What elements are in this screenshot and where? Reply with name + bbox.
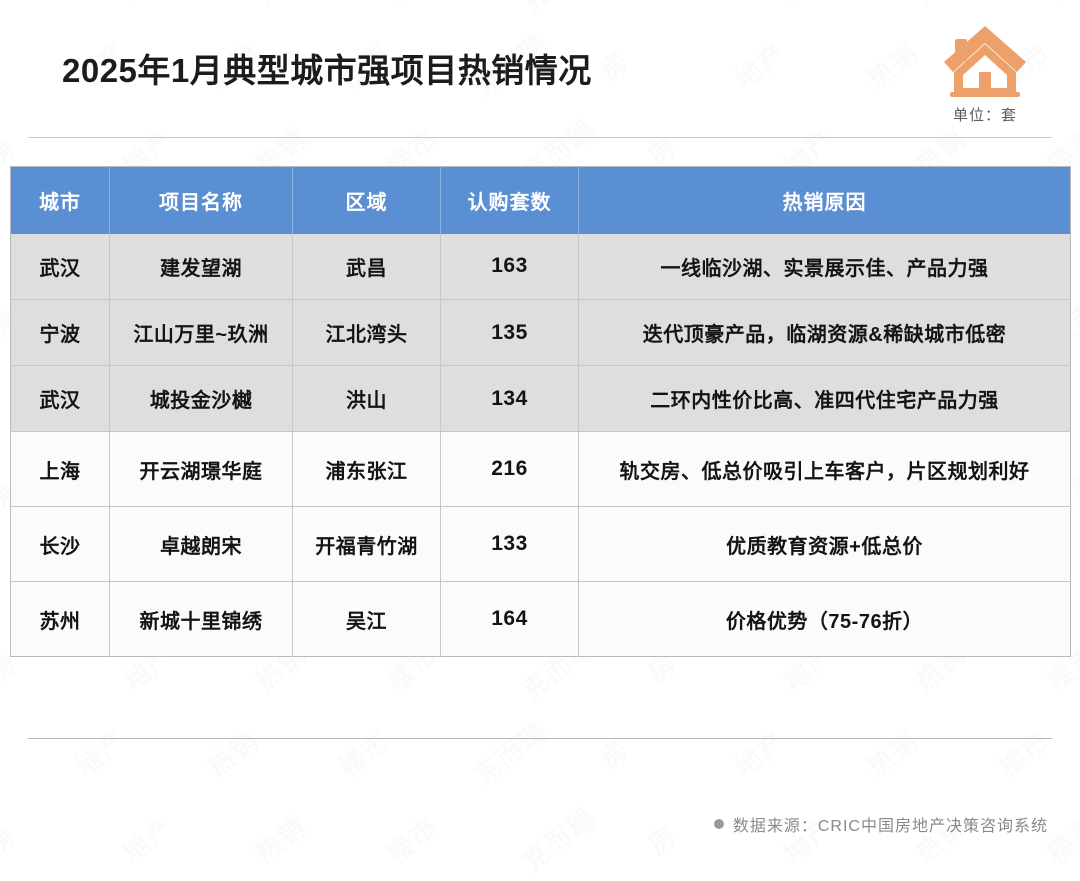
cell-project: 江山万里~玖洲 bbox=[110, 300, 293, 366]
watermark-text: 楼市 bbox=[991, 721, 1058, 785]
cell-count: 134 bbox=[441, 366, 579, 432]
table-row: 武汉 建发望湖 武昌 163 一线临沙湖、实景展示佳、产品力强 bbox=[11, 234, 1071, 300]
header-divider bbox=[28, 137, 1052, 138]
watermark-text: 地产 bbox=[727, 721, 794, 785]
cell-project: 建发望湖 bbox=[110, 234, 293, 300]
watermark-text: 地产 bbox=[67, 721, 134, 785]
header: 2025年1月典型城市强项目热销情况 单位：套 bbox=[0, 0, 1080, 140]
table-row: 苏州 新城十里锦绣 吴江 164 价格优势（75-76折） bbox=[11, 582, 1071, 657]
watermark-text: 楼市 bbox=[379, 807, 446, 871]
column-header-area: 区域 bbox=[293, 167, 441, 234]
cell-count: 163 bbox=[441, 234, 579, 300]
table-head: 城市 项目名称 区域 认购套数 热销原因 bbox=[11, 167, 1071, 234]
cell-project: 城投金沙樾 bbox=[110, 366, 293, 432]
table-body: 武汉 建发望湖 武昌 163 一线临沙湖、实景展示佳、产品力强 宁波 江山万里~… bbox=[11, 234, 1071, 657]
cell-city: 武汉 bbox=[11, 366, 110, 432]
cell-project: 卓越朗宋 bbox=[110, 507, 293, 582]
cell-area: 吴江 bbox=[293, 582, 441, 657]
watermark-text: 克而瑞 bbox=[514, 798, 603, 879]
bullet-dot-icon bbox=[714, 819, 724, 829]
column-header-city: 城市 bbox=[11, 167, 110, 234]
cell-count: 135 bbox=[441, 300, 579, 366]
cell-city: 长沙 bbox=[11, 507, 110, 582]
column-header-count: 认购套数 bbox=[441, 167, 579, 234]
infographic-page: 房地产热销楼市克而瑞房地产热销楼市克而瑞房地产热销楼市克而瑞房地产热销楼市克而瑞… bbox=[0, 0, 1080, 881]
cell-count: 216 bbox=[441, 432, 579, 507]
footer-divider bbox=[28, 738, 1052, 739]
cell-area: 浦东张江 bbox=[293, 432, 441, 507]
watermark-text: 热销 bbox=[247, 807, 314, 871]
table-row: 武汉 城投金沙樾 洪山 134 二环内性价比高、准四代住宅产品力强 bbox=[11, 366, 1071, 432]
cell-reason: 价格优势（75-76折） bbox=[579, 582, 1071, 657]
page-title: 2025年1月典型城市强项目热销情况 bbox=[62, 44, 592, 92]
watermark-text: 房 bbox=[592, 729, 637, 775]
cell-reason: 迭代顶豪产品，临湖资源&稀缺城市低密 bbox=[579, 300, 1071, 366]
data-source-note: 数据来源：CRIC中国房地产决策咨询系统 bbox=[714, 812, 1048, 836]
cell-reason: 二环内性价比高、准四代住宅产品力强 bbox=[579, 366, 1071, 432]
cell-city: 苏州 bbox=[11, 582, 110, 657]
cell-city: 上海 bbox=[11, 432, 110, 507]
unit-label: 单位：套 bbox=[920, 104, 1050, 125]
watermark-text: 房 bbox=[640, 815, 685, 861]
watermark-text: 热销 bbox=[199, 721, 266, 785]
watermark-text: 房 bbox=[0, 815, 24, 861]
column-header-project: 项目名称 bbox=[110, 167, 293, 234]
hot-sales-table: 城市 项目名称 区域 认购套数 热销原因 武汉 建发望湖 武昌 163 一线临沙… bbox=[10, 166, 1071, 657]
table-header-row: 城市 项目名称 区域 认购套数 热销原因 bbox=[11, 167, 1071, 234]
cell-area: 开福青竹湖 bbox=[293, 507, 441, 582]
watermark-text: 楼市 bbox=[331, 721, 398, 785]
watermark-text: 地产 bbox=[115, 807, 182, 871]
table-row: 宁波 江山万里~玖洲 江北湾头 135 迭代顶豪产品，临湖资源&稀缺城市低密 bbox=[11, 300, 1071, 366]
cell-area: 洪山 bbox=[293, 366, 441, 432]
cell-count: 164 bbox=[441, 582, 579, 657]
watermark-text: 热销 bbox=[859, 721, 926, 785]
data-source-text: 数据来源：CRIC中国房地产决策咨询系统 bbox=[733, 812, 1048, 836]
cell-area: 江北湾头 bbox=[293, 300, 441, 366]
cell-project: 新城十里锦绣 bbox=[110, 582, 293, 657]
cell-city: 武汉 bbox=[11, 234, 110, 300]
column-header-reason: 热销原因 bbox=[579, 167, 1071, 234]
table-container: 城市 项目名称 区域 认购套数 热销原因 武汉 建发望湖 武昌 163 一线临沙… bbox=[10, 166, 1070, 657]
table-row: 长沙 卓越朗宋 开福青竹湖 133 优质教育资源+低总价 bbox=[11, 507, 1071, 582]
watermark-text: 克而瑞 bbox=[466, 712, 555, 793]
cell-area: 武昌 bbox=[293, 234, 441, 300]
cell-reason: 一线临沙湖、实景展示佳、产品力强 bbox=[579, 234, 1071, 300]
cell-count: 133 bbox=[441, 507, 579, 582]
house-icon bbox=[942, 22, 1028, 100]
unit-icon-block: 单位：套 bbox=[920, 22, 1050, 125]
cell-city: 宁波 bbox=[11, 300, 110, 366]
cell-reason: 优质教育资源+低总价 bbox=[579, 507, 1071, 582]
table-row: 上海 开云湖璟华庭 浦东张江 216 轨交房、低总价吸引上车客户，片区规划利好 bbox=[11, 432, 1071, 507]
cell-project: 开云湖璟华庭 bbox=[110, 432, 293, 507]
cell-reason: 轨交房、低总价吸引上车客户，片区规划利好 bbox=[579, 432, 1071, 507]
